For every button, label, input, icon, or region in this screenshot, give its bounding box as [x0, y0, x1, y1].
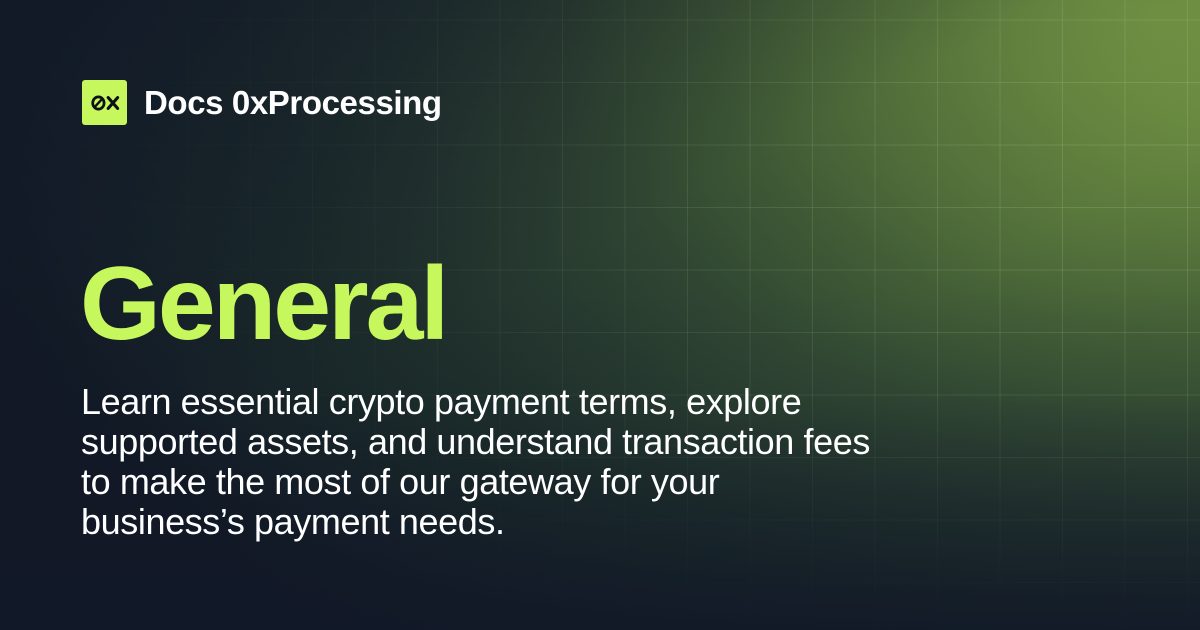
brand-title: Docs 0xProcessing [144, 86, 442, 119]
card-content: Docs 0xProcessing General Learn essentia… [0, 0, 1200, 630]
page-subtitle: Learn essential crypto payment terms, ex… [81, 382, 881, 542]
page-title: General [80, 252, 446, 356]
brand-header[interactable]: Docs 0xProcessing [82, 80, 442, 125]
og-card: Docs 0xProcessing General Learn essentia… [0, 0, 1200, 630]
0x-logo-icon [82, 80, 127, 125]
